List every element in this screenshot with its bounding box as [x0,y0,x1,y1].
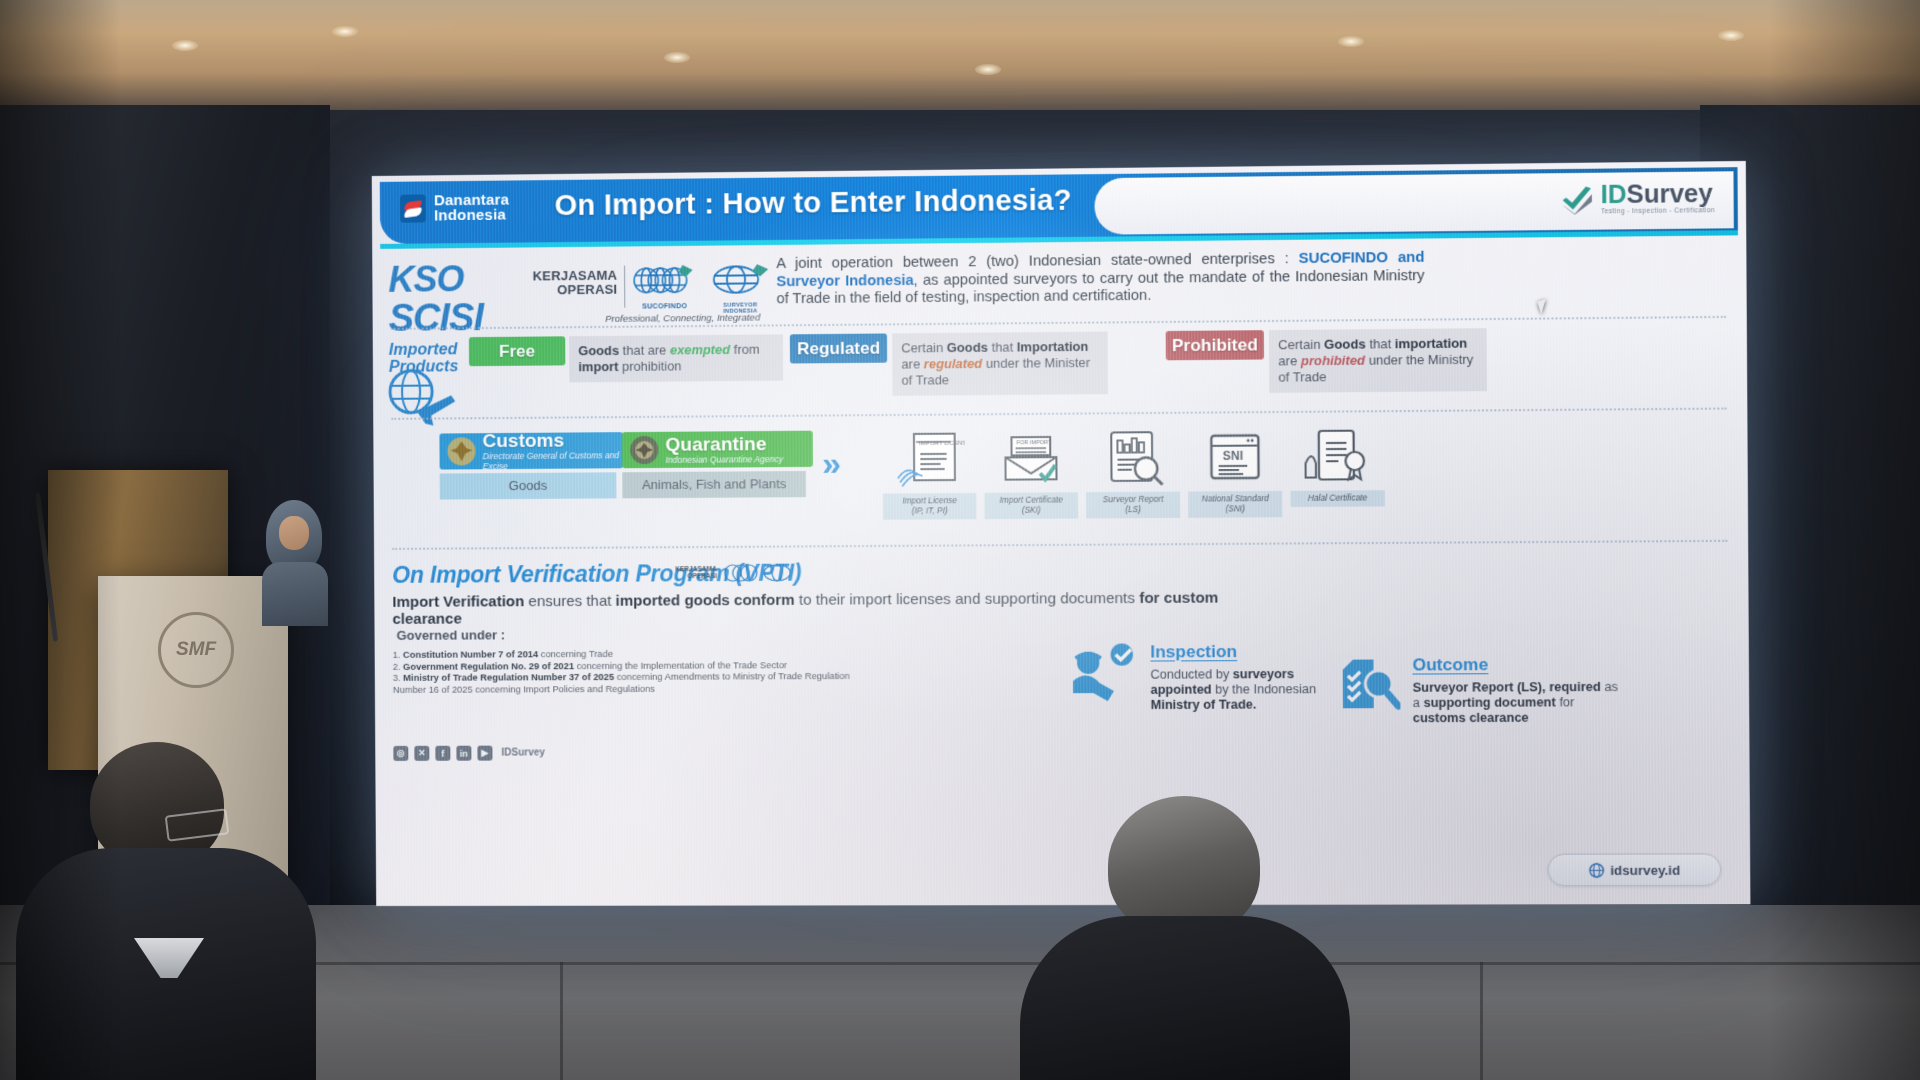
inspection-block: Inspection Conducted by surveyors appoin… [1071,641,1356,713]
social-links[interactable]: ◎ ✕ f in ▶ IDSurvey [393,745,545,761]
kerjasama-tagline: Professional, Connecting, Integrated [605,312,760,324]
national-standard-sni-icon: SNI [1188,425,1282,488]
vpti-intro: Import Verification ensures that importe… [392,589,1283,628]
audience-person-left [16,742,316,1080]
document-surveyor-report: Surveyor Report (LS) [1086,426,1180,519]
authority-quarantine-subtitle: Indonesian Quarantine Agency [665,454,783,465]
linkedin-icon[interactable]: in [456,746,471,761]
divider [624,266,625,308]
category-text-regulated: Certain Goods that Importation are regul… [892,332,1108,396]
ceiling-light [664,52,690,63]
category-text-prohibited: Certain Goods that importation are prohi… [1269,328,1487,393]
outcome-block: Outcome Surveyor Report (LS), required a… [1337,654,1619,726]
danantara-logo: Danantara Indonesia [400,193,510,224]
ceiling-light [172,40,198,51]
customs-garuda-seal-icon [446,436,476,466]
ceiling-light [1718,30,1744,41]
floor-seam [560,962,563,1080]
inspection-title: Inspection [1150,641,1355,662]
authority-quarantine-scope: Animals, Fish and Plants [622,471,806,498]
facebook-icon[interactable]: f [435,746,450,761]
category-badge-free: Free [469,336,566,366]
outcome-title: Outcome [1412,654,1618,675]
audience-person-right [1020,796,1350,1080]
list-item: 3. Ministry of Trade Regulation Number 3… [393,671,871,696]
document-label: Import License (IP, IT, PI) [883,493,976,520]
projection-screen: Danantara Indonesia On Import : How to E… [372,161,1751,906]
idsurvey-url-label: idsurvey.id [1610,862,1680,877]
idsurvey-wordmark: IDSurvey [1601,182,1715,208]
speaker-body [262,562,328,626]
surveyor-indonesia-globe-icon [708,262,773,297]
danantara-brand-line2: Indonesia [434,208,509,224]
import-license-document-icon: IMPORT LICENSE [883,427,977,490]
globe-icon [1588,862,1604,877]
joint-operation-text: A joint operation between 2 (two) Indone… [776,250,1424,309]
kerjasama-line2: OPERASI [533,283,618,298]
category-badge-regulated: Regulated [790,333,887,363]
quarantine-garuda-seal-icon [629,435,659,465]
vpti-partner-globes-icon [721,562,796,585]
inspection-body: Conducted by surveyors appointed by the … [1150,667,1355,713]
outcome-body: Surveyor Report (LS), required as a supp… [1413,680,1619,726]
speaker-face [279,516,309,550]
audience-body [1020,916,1350,1080]
document-label: Surveyor Report (LS) [1086,492,1180,519]
separator-dotted [391,408,1726,420]
document-label: National Standard (SNI) [1188,491,1282,518]
kerjasama-label: KERJASAMA OPERASI [533,264,618,298]
checklist-magnifier-icon [1337,655,1401,718]
chevron-double-right-icon: » [822,445,835,484]
sucofindo-globes-icon [632,263,697,298]
sucofindo-logo: SUCOFINDO [632,263,697,311]
authority-customs-title: Customs [482,431,623,451]
instagram-icon[interactable]: ◎ [393,746,408,761]
slide-title: On Import : How to Enter Indonesia? [540,184,1086,223]
conference-room-photo: Danantara Indonesia On Import : How to E… [0,0,1920,1080]
surveyor-report-chart-icon [1086,426,1180,489]
social-handle: IDSurvey [501,747,545,758]
kso-line2: SCISI [389,299,489,338]
ceiling-light [975,64,1001,75]
kerjasama-operasi-block: KERJASAMA OPERASI SUCOFINDO [533,262,773,316]
authority-customs-scope: Goods [440,472,617,499]
kso-line1: KSO [388,261,488,298]
document-import-license: IMPORT LICENSE Import License (IP, IT, P… [883,427,977,519]
ceiling [0,0,1920,118]
audience-head [1108,796,1260,936]
svg-text:FOR IMPORT: FOR IMPORT [1017,440,1053,446]
document-label: Halal Certificate [1290,490,1384,507]
idsurvey-tagline: Testing - Inspection - Certification [1601,207,1715,215]
x-twitter-icon[interactable]: ✕ [414,746,429,761]
danantara-flag-icon [400,194,426,222]
category-text-free: Goods that are exempted from import proh… [569,334,783,382]
idsurvey-url-badge[interactable]: idsurvey.id [1547,853,1721,886]
regulation-list: 1. Constitution Number 7 of 2014 concern… [393,648,871,696]
authority-quarantine: Quarantine Indonesian Quarantine Agency [622,431,813,469]
document-national-standard: SNI National Standard (SNI) [1188,425,1283,518]
floor-seam [1480,962,1483,1080]
podium-logo: SMF [158,612,234,688]
kso-partner-logos: SUCOFINDO SURVEYOR INDONESIA [632,262,772,316]
surveyor-indonesia-logo: SURVEYOR INDONESIA [708,262,773,315]
idsurvey-logo: IDSurvey Testing - Inspection - Certific… [1558,182,1715,216]
svg-text:SNI: SNI [1223,449,1244,463]
idsurvey-check-mark-icon [1558,184,1593,215]
ceiling-light [1338,36,1364,47]
vpti-kerjasama-label: KERJASAMA OPERASI [675,566,717,580]
authority-quarantine-title: Quarantine [665,434,783,454]
authority-customs-subtitle: Directorate General of Customs and Excis… [483,450,624,471]
speaker-person [262,500,328,620]
halal-certificate-icon [1290,424,1385,487]
svg-text:IMPORT LICENSE: IMPORT LICENSE [919,441,965,447]
separator-dotted [392,540,1727,550]
document-halal-certificate: Halal Certificate [1290,424,1385,507]
import-certificate-envelope-icon: FOR IMPORT [984,427,1078,490]
separator-dotted [391,316,1726,330]
presentation-slide: Danantara Indonesia On Import : How to E… [372,161,1751,906]
youtube-icon[interactable]: ▶ [477,746,492,761]
authority-customs: Customs Directorate General of Customs a… [439,432,623,469]
vpti-kerjasama-logos: KERJASAMA OPERASI [675,562,795,585]
sucofindo-name: SUCOFINDO [633,303,698,311]
ceiling-light [332,26,358,37]
category-badge-prohibited: Prohibited [1166,330,1264,360]
governed-under-label: Governed under : [397,627,506,643]
document-label: Import Certificate (SKI) [984,492,1078,519]
inspector-check-icon [1071,642,1139,705]
document-import-certificate: FOR IMPORT Import Certificate (SKI) [984,427,1078,519]
